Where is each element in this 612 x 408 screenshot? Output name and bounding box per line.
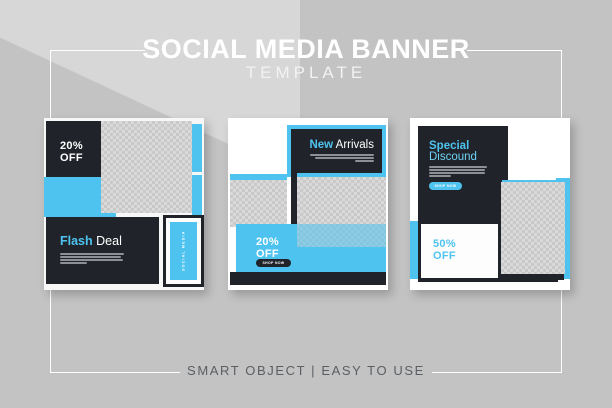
card3-image-placeholder [501,182,565,274]
card2-body-text [310,154,374,163]
card1-side-label: SOCIAL MEDIA [170,222,197,280]
card1-body-text [60,253,124,265]
card1-cyan-strip-bottom [192,175,202,215]
card2-headline: New Arrivals [300,139,374,152]
card2-discount: 20%OFF [256,237,279,260]
banner-card-flash-deal[interactable]: 20%OFF Flash Deal Lorem ipsum dolor sit … [44,118,204,290]
poster-subtitle: TEMPLATE [0,64,612,81]
card2-shop-now-button[interactable]: SHOP NOW [256,259,291,267]
banner-card-special-discound[interactable]: Special Discound Lorem ipsum dolor sit a… [410,118,570,290]
card2-image-placeholder-right [297,177,386,224]
banner-card-new-arrivals[interactable]: New Arrivals Lorem ipsum dolor sit amet,… [228,118,388,290]
poster-canvas: SOCIAL MEDIA BANNER TEMPLATE SMART OBJEC… [0,0,612,408]
card1-discount: 20%OFF [60,141,83,164]
card3-shop-now-button[interactable]: SHOP NOW [429,182,462,190]
card1-cyan-strip-top [192,124,202,172]
card1-content-panel: Flash Deal Lorem ipsum dolor sit amet, c… [46,217,159,284]
card2-image-placeholder-overlay [297,224,386,247]
card3-discount: 50%OFF [433,239,456,262]
card2-bottom-bar [230,272,386,285]
card1-image-placeholder [101,121,192,213]
poster-footer-text: SMART OBJECT | EASY TO USE [0,364,612,377]
poster-title: SOCIAL MEDIA BANNER [0,36,612,63]
card3-cyan-strip-left [410,221,418,279]
card1-headline: Flash Deal [60,235,122,249]
card3-headline-2: Discound [429,151,477,164]
card3-body-text [429,166,487,178]
card2-image-placeholder-left [230,180,287,227]
